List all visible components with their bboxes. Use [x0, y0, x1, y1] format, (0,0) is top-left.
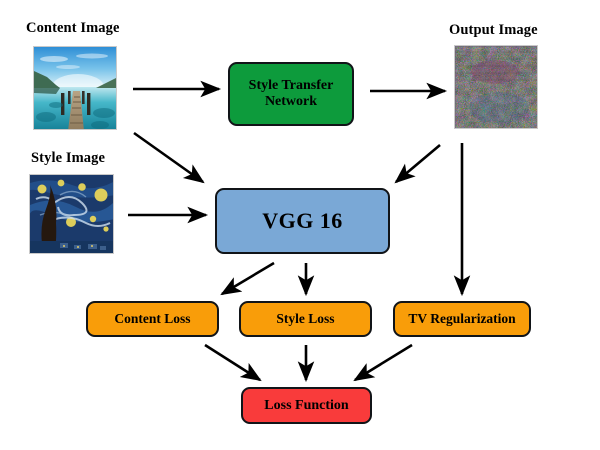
style-image-thumbnail [29, 174, 114, 254]
content-image-thumbnail [33, 46, 117, 130]
edge-vgg-to-content-loss [222, 263, 274, 294]
node-style-loss-label: Style Loss [276, 311, 334, 326]
style-image-label: Style Image [31, 150, 105, 167]
edge-content-loss-to-loss [205, 345, 260, 380]
node-style-transfer-network-label: Style Transfer Network [249, 78, 334, 109]
node-loss-function-label: Loss Function [264, 398, 348, 414]
edge-content-to-vgg [134, 133, 203, 182]
node-tv-regularization[interactable]: TV Regularization [393, 301, 531, 337]
node-tv-regularization-label: TV Regularization [408, 311, 515, 326]
edge-tv-to-loss [355, 345, 412, 380]
node-content-loss[interactable]: Content Loss [86, 301, 219, 337]
node-loss-function[interactable]: Loss Function [241, 387, 372, 424]
output-image-label: Output Image [449, 22, 538, 39]
edge-output-to-vgg [396, 145, 440, 182]
node-vgg16-label: VGG 16 [262, 209, 343, 234]
node-style-loss[interactable]: Style Loss [239, 301, 372, 337]
node-vgg16[interactable]: VGG 16 [215, 188, 390, 254]
node-content-loss-label: Content Loss [114, 311, 190, 326]
output-image-thumbnail [454, 45, 538, 129]
style-transfer-diagram: Content Image Style Image Output Image [0, 0, 600, 450]
content-image-label: Content Image [26, 20, 120, 37]
node-style-transfer-network[interactable]: Style Transfer Network [228, 62, 354, 126]
